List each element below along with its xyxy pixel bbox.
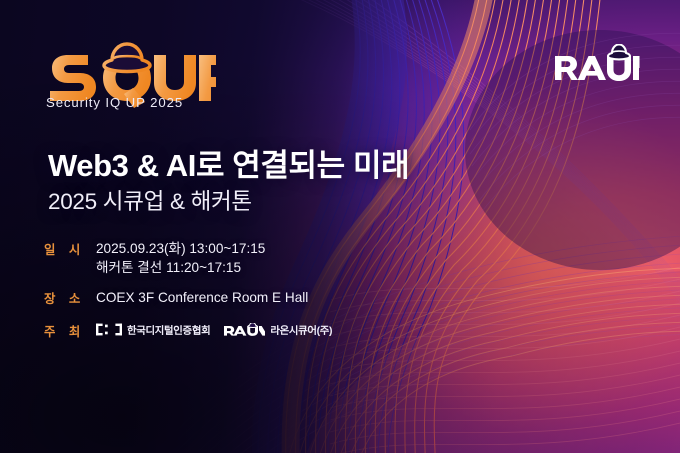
squp-tagline: Security IQ UP 2025 bbox=[46, 95, 183, 110]
kdaa-mark-icon bbox=[96, 323, 122, 336]
fedora-hat-icon bbox=[248, 323, 257, 328]
event-banner: Security IQ UP 2025 Web3 & AI로 연결되는 미래 2… bbox=[0, 0, 680, 453]
host-item-kdaa: 한국디지털인증협회 bbox=[96, 322, 210, 337]
info-value-datetime: 2025.09.23(화) 13:00~17:15 해커톤 결선 11:20~1… bbox=[96, 240, 265, 277]
info-label-datetime: 일 시 bbox=[44, 240, 96, 259]
raon-mark-icon bbox=[223, 323, 265, 336]
host-name-raon: 라온시큐어(주) bbox=[270, 322, 332, 337]
info-label-hosts: 주 최 bbox=[44, 322, 96, 341]
host-logo-list: 한국디지털인증협회 라온시큐어(주) bbox=[96, 322, 332, 337]
raon-partner-logo bbox=[552, 44, 644, 84]
datetime-line-1: 2025.09.23(화) 13:00~17:15 bbox=[96, 241, 265, 256]
info-row-venue: 장 소 COEX 3F Conference Room E Hall bbox=[44, 289, 464, 308]
page-title: Web3 & AI로 연결되는 미래 bbox=[48, 140, 409, 185]
fedora-hat-icon bbox=[104, 44, 150, 72]
info-label-venue: 장 소 bbox=[44, 289, 96, 308]
host-name-kdaa: 한국디지털인증협회 bbox=[127, 322, 210, 337]
event-info-block: 일 시 2025.09.23(화) 13:00~17:15 해커톤 결선 11:… bbox=[44, 240, 464, 353]
page-subtitle: 2025 시큐업 & 해커톤 bbox=[48, 184, 252, 216]
fedora-hat-icon bbox=[608, 45, 630, 60]
info-value-venue: COEX 3F Conference Room E Hall bbox=[96, 289, 308, 308]
datetime-line-2: 해커톤 결선 11:20~17:15 bbox=[96, 259, 265, 278]
info-row-datetime: 일 시 2025.09.23(화) 13:00~17:15 해커톤 결선 11:… bbox=[44, 240, 464, 277]
info-row-hosts: 주 최 한 bbox=[44, 322, 464, 341]
host-item-raon: 라온시큐어(주) bbox=[223, 322, 332, 337]
